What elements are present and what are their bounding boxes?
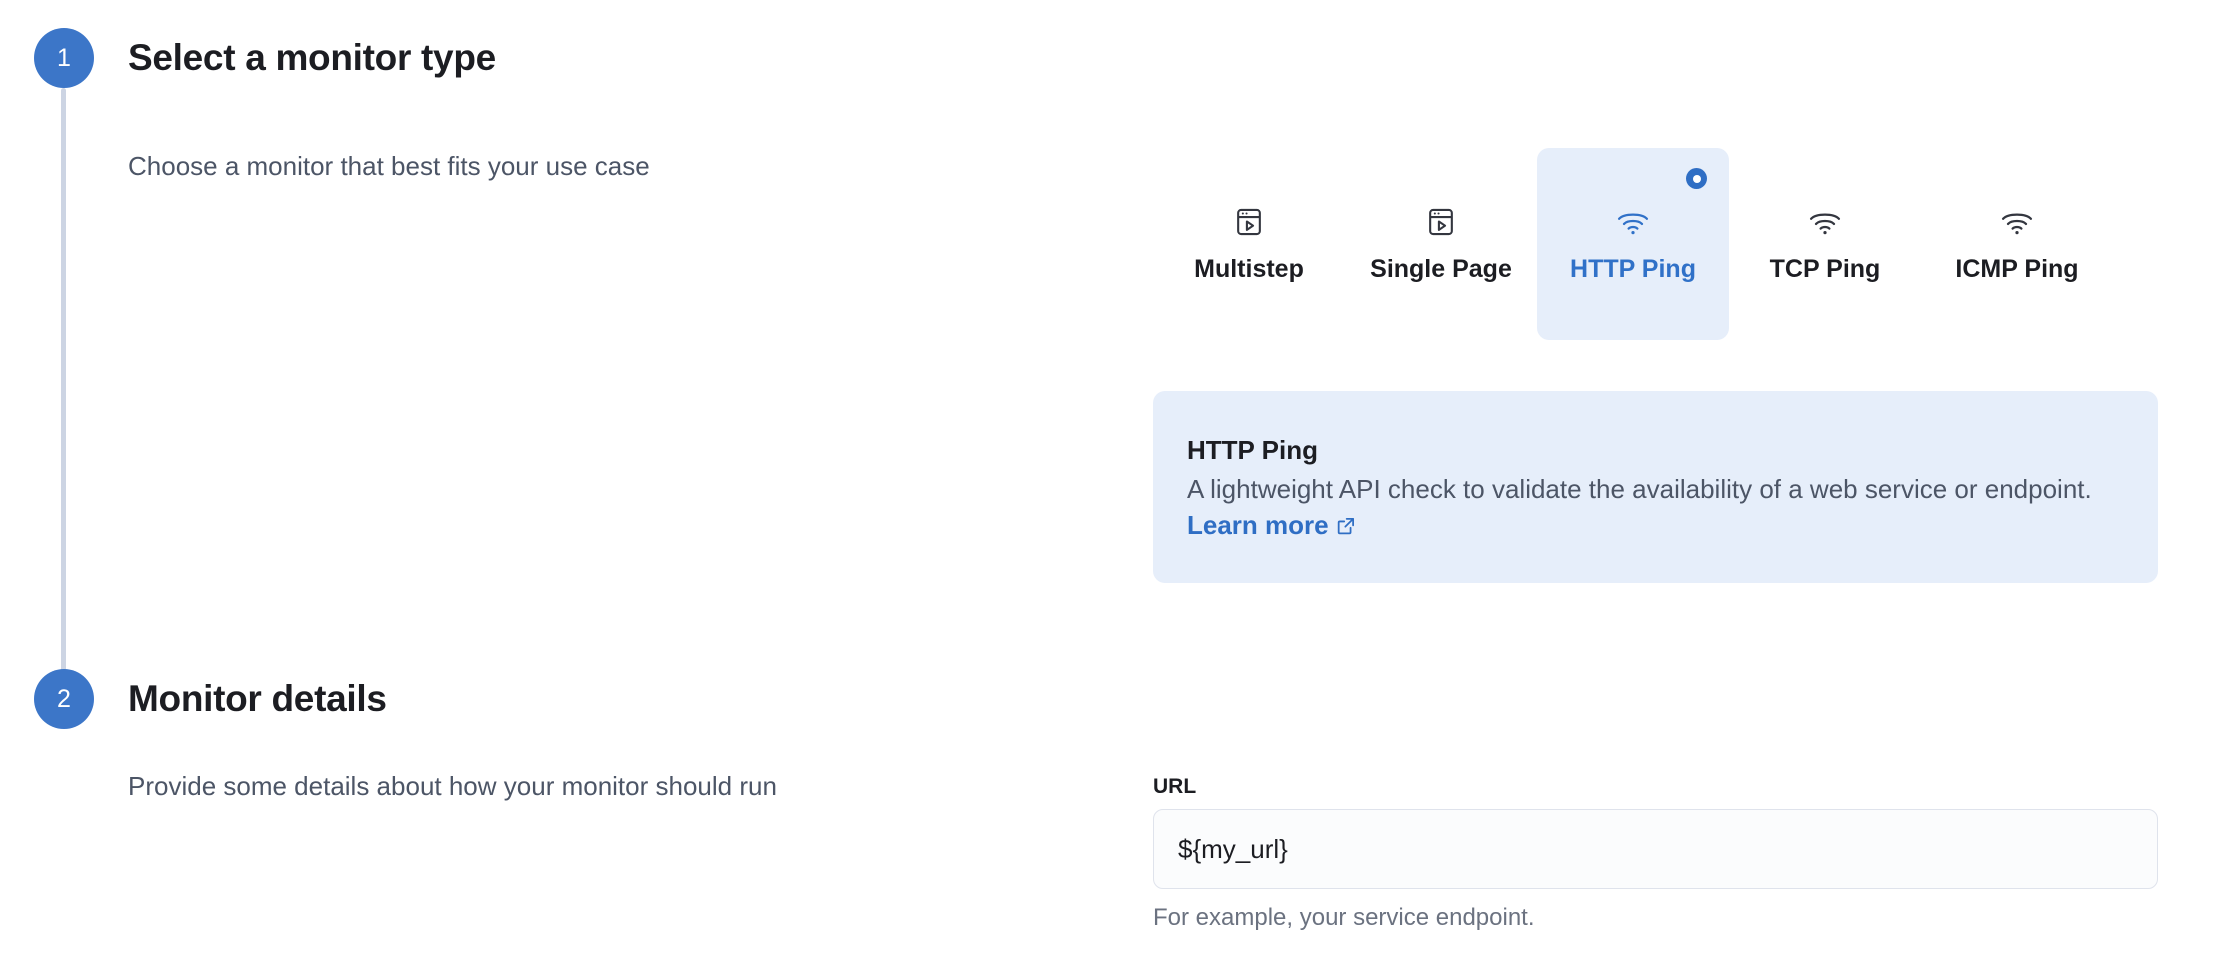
monitor-type-label: TCP Ping [1770,255,1881,284]
monitor-type-option-single-page[interactable]: Single Page [1345,148,1537,340]
signal-wave-icon [1615,205,1651,239]
monitor-type-info-panel: HTTP Ping A lightweight API check to val… [1153,391,2158,583]
monitor-setup-page: 1 Select a monitor type Choose a monitor… [0,0,2218,958]
page-title-monitor-details: Monitor details [128,678,387,720]
monitor-type-option-multistep[interactable]: Multistep [1153,148,1345,340]
section-description-1: Choose a monitor that best fits your use… [128,151,650,182]
monitor-type-option-tcp-ping[interactable]: TCP Ping [1729,148,1921,340]
step-indicator-2: 2 [34,669,94,729]
info-panel-body: A lightweight API check to validate the … [1187,472,2122,545]
step-indicator-1: 1 [34,28,94,88]
monitor-type-label: HTTP Ping [1570,255,1696,284]
monitor-type-option-icmp-ping[interactable]: ICMP Ping [1921,148,2113,340]
url-field-block: URL ${my_url} For example, your service … [1153,775,2158,932]
section-description-2: Provide some details about how your moni… [128,771,777,802]
step-number-2: 2 [57,687,71,712]
signal-wave-icon [1807,205,1843,239]
monitor-type-label: Single Page [1370,255,1512,284]
browser-play-icon [1423,205,1459,239]
monitor-type-label: Multistep [1194,255,1304,284]
radio-selected-icon[interactable] [1686,168,1707,189]
page-title-select-monitor-type: Select a monitor type [128,37,496,79]
monitor-type-selector: Multistep Single Page [1153,148,1745,340]
stepper-connector-line [61,88,66,673]
step-number-1: 1 [57,46,71,71]
info-panel-title: HTTP Ping [1187,435,2124,466]
url-field-label: URL [1153,775,2158,799]
url-field-help-text: For example, your service endpoint. [1153,904,2158,932]
info-panel-description: A lightweight API check to validate the … [1187,474,2092,504]
monitor-type-option-http-ping[interactable]: HTTP Ping [1537,148,1729,340]
external-link-icon[interactable] [1336,510,1356,546]
monitor-type-label: ICMP Ping [1955,255,2078,284]
url-input[interactable]: ${my_url} [1153,809,2158,889]
learn-more-link[interactable]: Learn more [1187,510,1329,540]
signal-wave-icon [1999,205,2035,239]
browser-play-icon [1231,205,1267,239]
